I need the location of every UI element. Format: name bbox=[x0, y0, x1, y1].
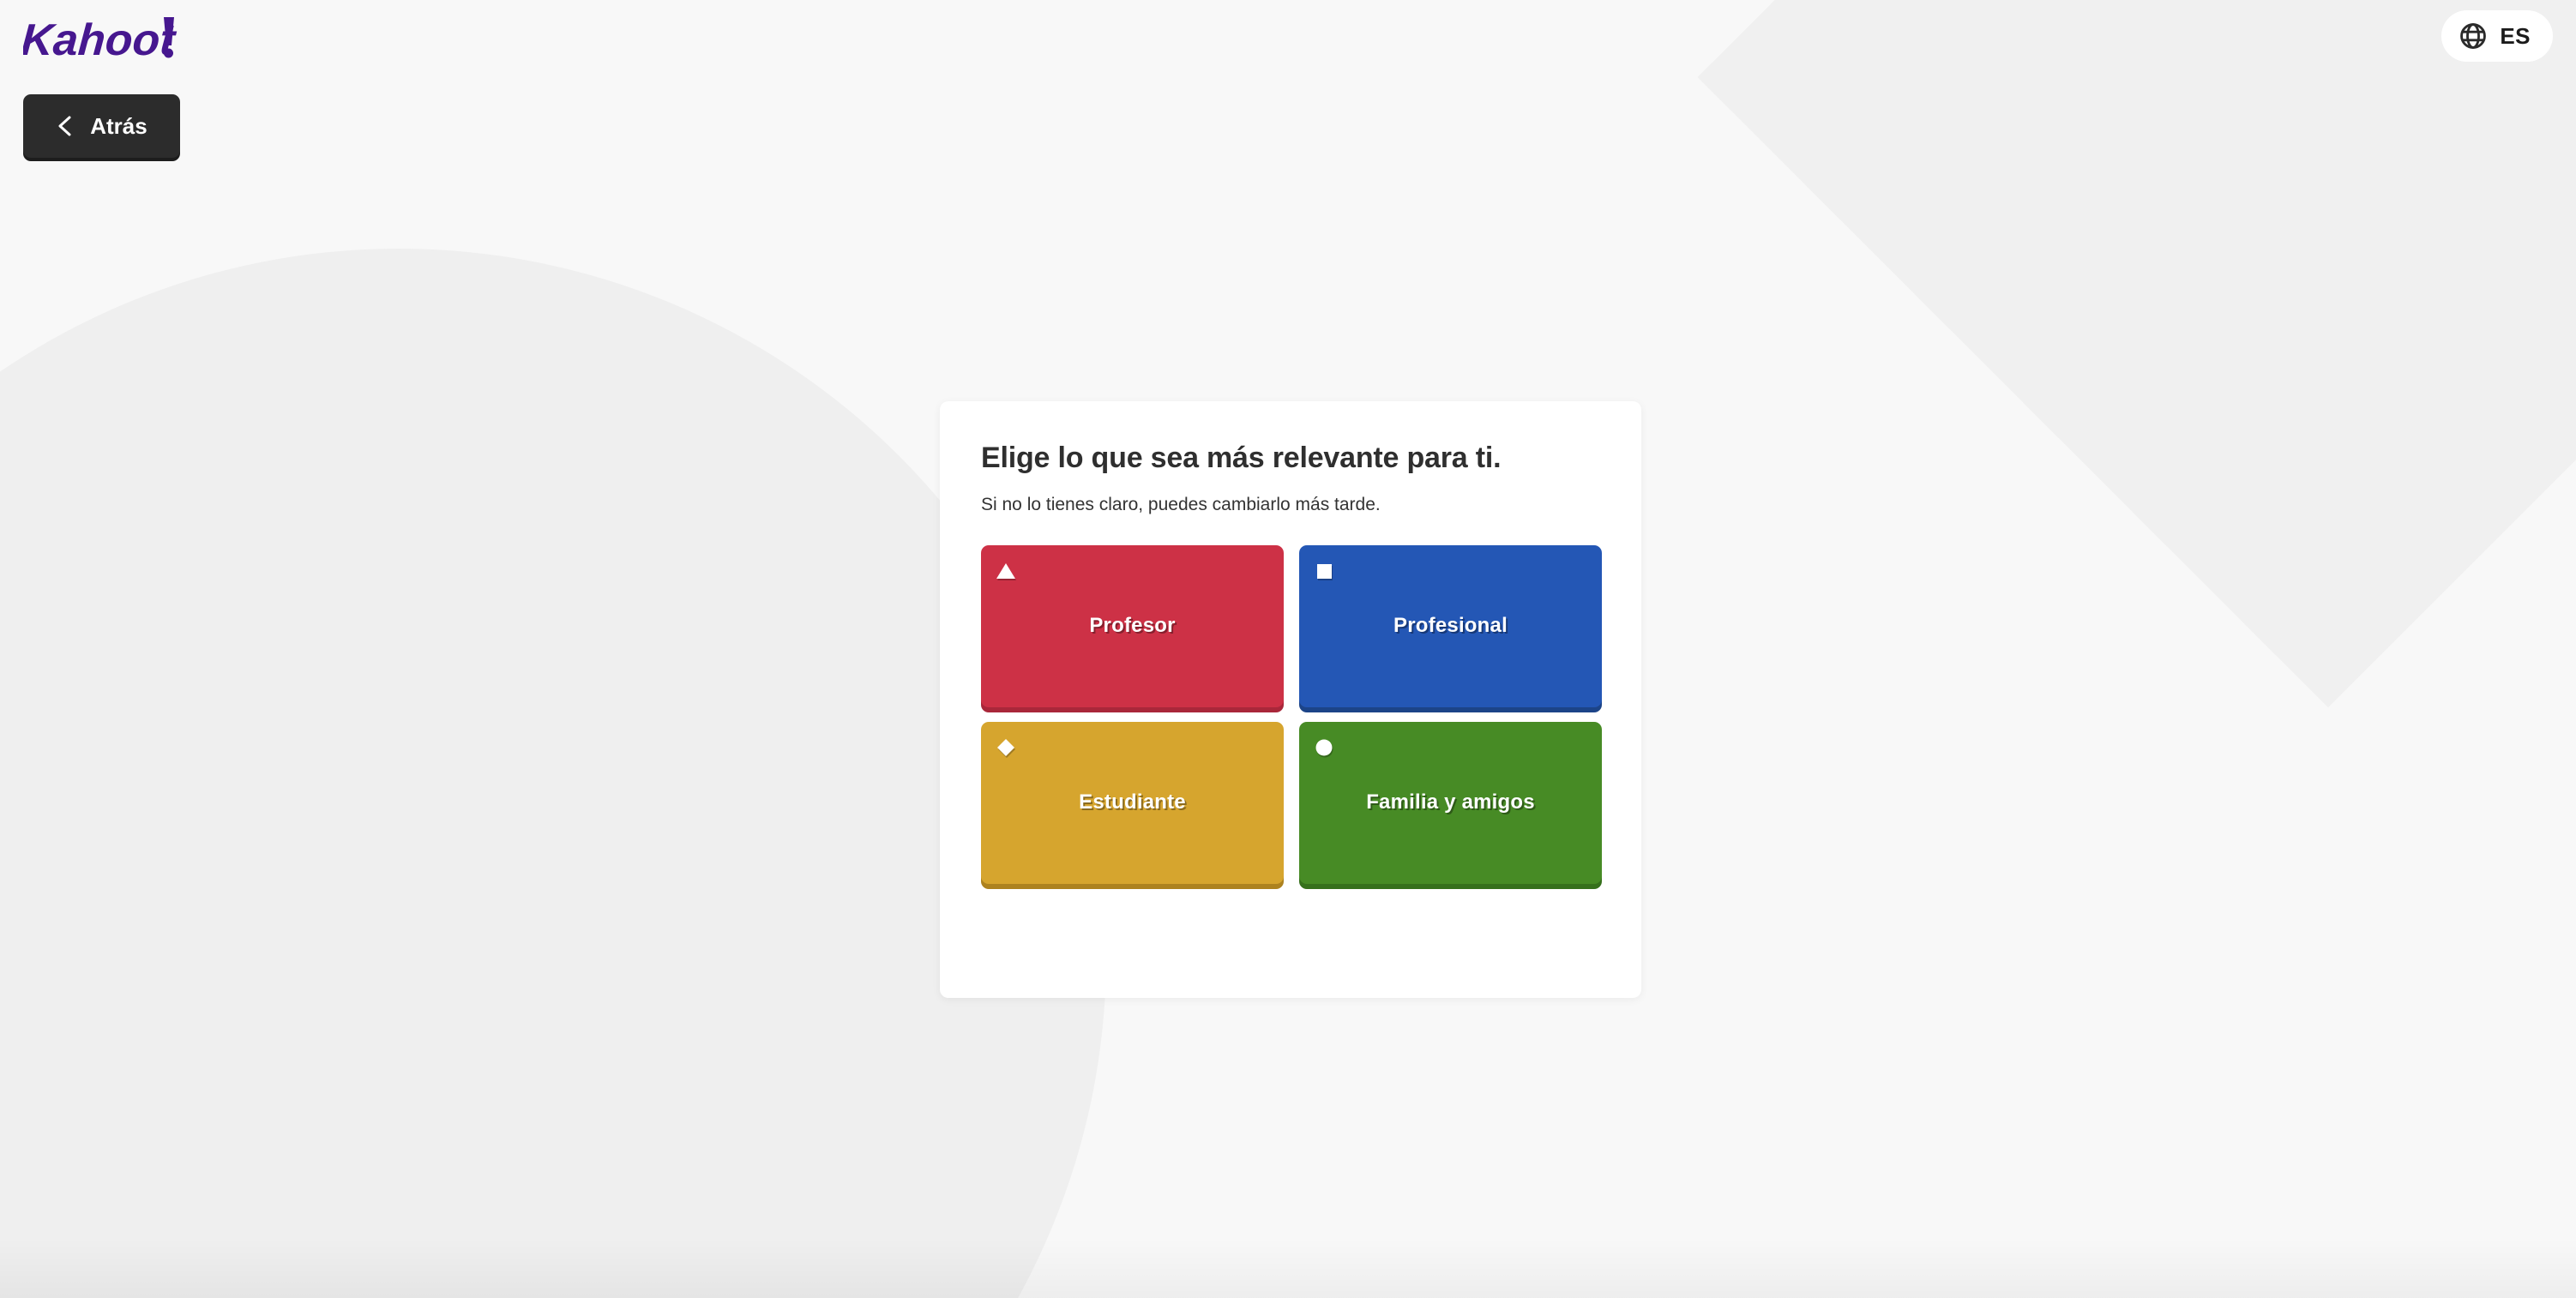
language-selector[interactable]: ES bbox=[2441, 10, 2553, 62]
role-selection-card: Elige lo que sea más relevante para ti. … bbox=[940, 401, 1641, 998]
role-option-label: Estudiante bbox=[981, 790, 1284, 814]
diamond-icon bbox=[995, 736, 1017, 759]
svg-text:Kahoot: Kahoot bbox=[23, 15, 178, 65]
language-code-label: ES bbox=[2500, 25, 2531, 47]
chevron-left-icon bbox=[56, 115, 75, 137]
role-option-label: Familia y amigos bbox=[1299, 790, 1602, 814]
background-diamond-shape bbox=[1698, 0, 2576, 707]
role-option-profesional[interactable]: Profesional bbox=[1299, 545, 1602, 707]
card-title: Elige lo que sea más relevante para ti. bbox=[981, 440, 1547, 478]
role-option-estudiante[interactable]: Estudiante bbox=[981, 722, 1284, 884]
square-icon bbox=[1313, 560, 1335, 582]
role-options-grid: Profesor Profesional Estudiante bbox=[981, 545, 1600, 884]
globe-icon bbox=[2459, 21, 2488, 51]
background-bottom-fade bbox=[0, 1238, 2576, 1298]
triangle-icon bbox=[995, 560, 1017, 582]
back-button[interactable]: Atrás bbox=[23, 94, 180, 158]
back-button-label: Atrás bbox=[90, 115, 147, 137]
role-option-profesor[interactable]: Profesor bbox=[981, 545, 1284, 707]
role-option-label: Profesor bbox=[981, 614, 1284, 638]
kahoot-logo[interactable]: Kahoot bbox=[23, 12, 195, 69]
role-option-label: Profesional bbox=[1299, 614, 1602, 638]
card-subtitle: Si no lo tienes claro, puedes cambiarlo … bbox=[981, 493, 1600, 517]
circle-icon bbox=[1313, 736, 1335, 759]
role-option-familia-y-amigos[interactable]: Familia y amigos bbox=[1299, 722, 1602, 884]
